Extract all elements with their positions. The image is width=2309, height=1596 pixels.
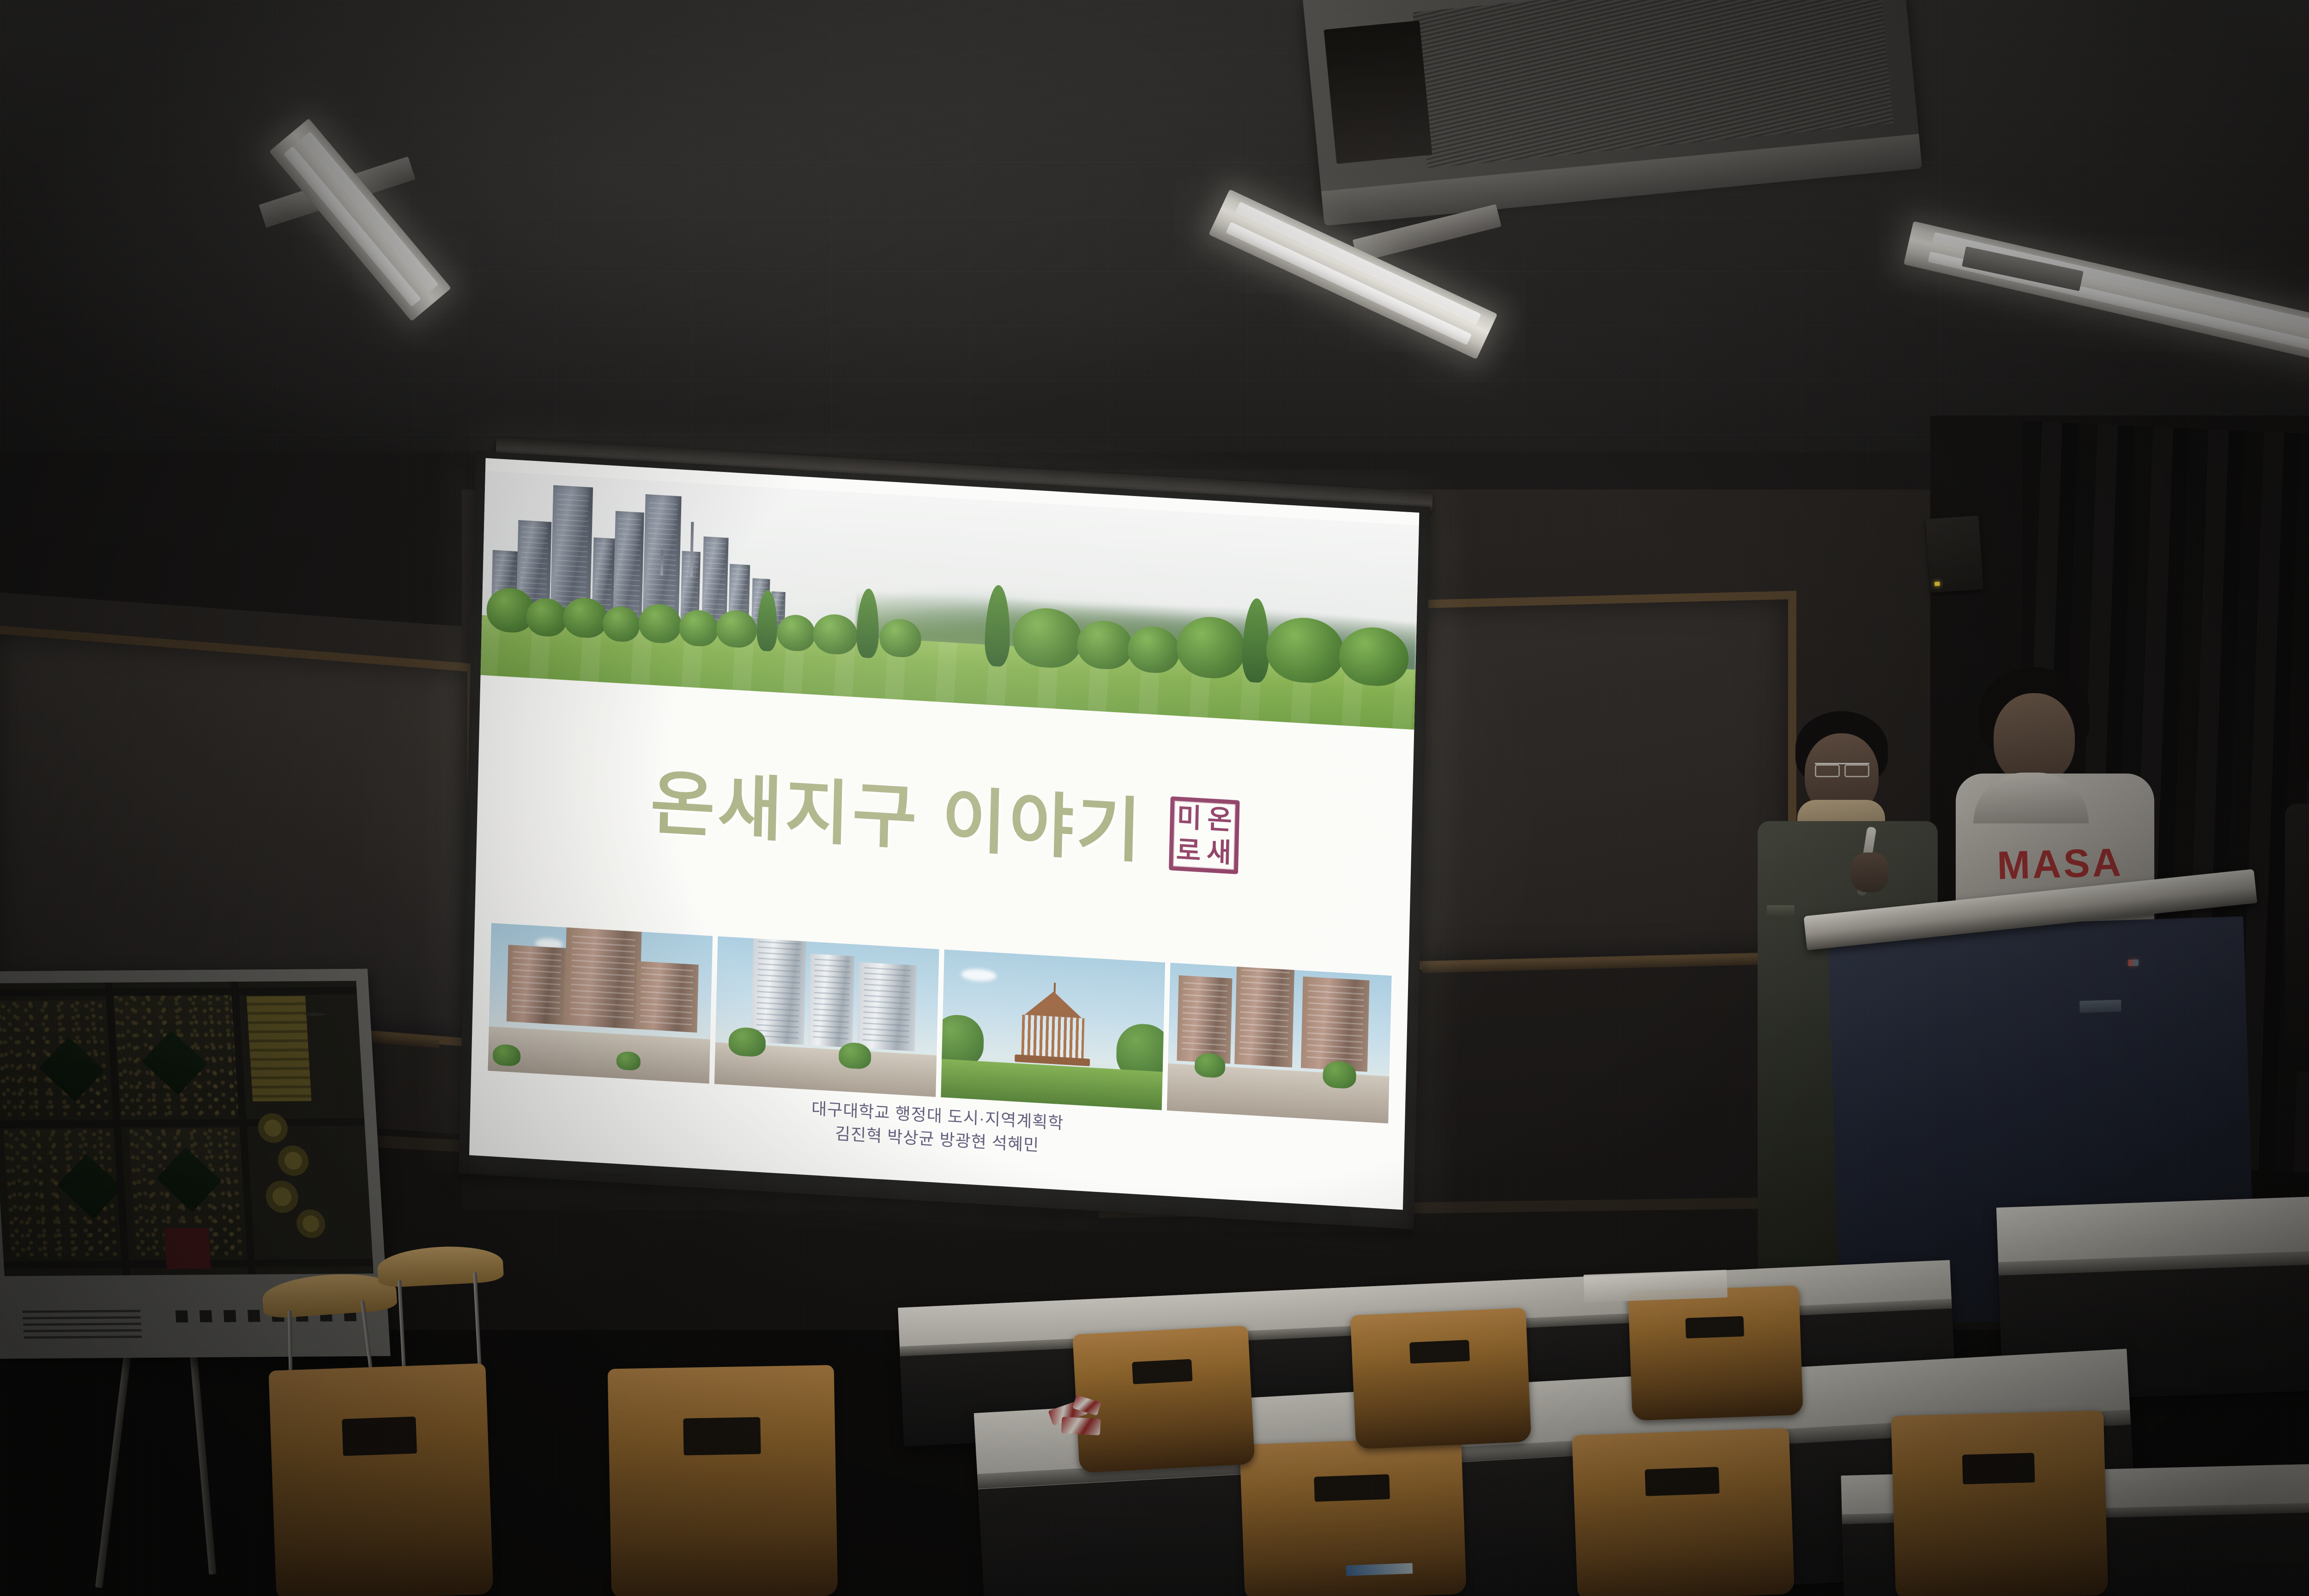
- chair-handle-cutout: [1409, 1340, 1470, 1364]
- townhouse-shape: [1177, 975, 1232, 1064]
- chair-handle-cutout: [1314, 1474, 1390, 1502]
- podium-led-icon: [2128, 959, 2138, 966]
- circular-plot: [265, 1180, 299, 1213]
- chair-back: [1239, 1437, 1467, 1596]
- seal-char: 미: [1173, 801, 1205, 835]
- gazebo-columns: [1022, 1015, 1084, 1059]
- compass-rose-icon: [302, 1002, 329, 1028]
- chair[interactable]: [268, 1363, 493, 1596]
- highrise-shape: [750, 936, 806, 1045]
- slide-title: 온새지구 이야기: [650, 768, 1145, 867]
- circular-plot: [277, 1145, 309, 1176]
- slide-banner-panorama: [481, 471, 1419, 730]
- poster-site-map: [0, 981, 374, 1276]
- chair-handle-cutout: [1645, 1467, 1720, 1496]
- townhouse-shape: [1234, 963, 1294, 1068]
- whiteboard-right[interactable]: [1390, 591, 1796, 970]
- chair-sticker: [1346, 1563, 1413, 1576]
- building-shape: [635, 961, 699, 1033]
- chair[interactable]: [1891, 1410, 2108, 1596]
- chair[interactable]: [608, 1365, 838, 1596]
- chair-back: [1628, 1286, 1803, 1421]
- photo-cell: [713, 936, 940, 1097]
- seal-stamp-icon: 미 온 로 새: [1169, 796, 1240, 874]
- easel-leg: [95, 1330, 134, 1588]
- photo-cell: [487, 923, 713, 1084]
- chair[interactable]: [1572, 1428, 1795, 1596]
- snack-wrapper[interactable]: [1048, 1396, 1113, 1443]
- torso: [2285, 804, 2309, 1071]
- chair-handle-cutout: [1685, 1316, 1744, 1338]
- chair-handle-cutout: [342, 1416, 417, 1456]
- highrise-shape: [857, 962, 916, 1052]
- chair-back: [1891, 1410, 2108, 1596]
- photo-cell: [1166, 963, 1393, 1124]
- podium-control-panel[interactable]: [2079, 1000, 2122, 1013]
- seal-char: 로: [1173, 834, 1204, 868]
- chair-handle-cutout: [1132, 1359, 1193, 1384]
- projection-screen: 온새지구 이야기 미 온 로 새: [458, 443, 1449, 1252]
- chair[interactable]: [1239, 1437, 1467, 1596]
- building-shape: [564, 927, 642, 1029]
- easel-leg: [188, 1335, 216, 1574]
- road: [0, 1118, 365, 1129]
- slide-title-row: 온새지구 이야기 미 온 로 새: [476, 717, 1414, 924]
- building-shape: [507, 945, 566, 1025]
- head: [1994, 693, 2075, 784]
- seal-char: 온: [1204, 803, 1235, 837]
- screen-border: 온새지구 이야기 미 온 로 새: [459, 451, 1431, 1230]
- photo-cell: [940, 949, 1167, 1110]
- hair: [2302, 720, 2309, 790]
- chair-back: [268, 1363, 493, 1596]
- chair[interactable]: [1350, 1308, 1531, 1449]
- ac-vent-louver: [1324, 21, 1432, 164]
- chair-back: [1572, 1428, 1795, 1596]
- poster-legend: [22, 1310, 142, 1343]
- commercial-strip: [246, 996, 311, 1101]
- circular-plot: [257, 1113, 288, 1143]
- glasses-icon: [1815, 763, 1869, 773]
- chair-back: [608, 1365, 838, 1596]
- chair[interactable]: [1628, 1286, 1803, 1421]
- townhouse-shape: [1301, 976, 1369, 1072]
- road: [0, 987, 357, 997]
- seated-attendee: [2281, 720, 2309, 1071]
- lecture-hall-scene: 온새지구 이야기 미 온 로 새: [0, 0, 2309, 1596]
- hand: [1851, 852, 1889, 892]
- civic-plot: [164, 1228, 211, 1269]
- sleeve-patch: [1767, 905, 1795, 918]
- paper-on-desk[interactable]: [1584, 1270, 1728, 1303]
- chair-back: [1350, 1308, 1531, 1449]
- highrise-shape: [808, 954, 855, 1048]
- projected-slide: 온새지구 이야기 미 온 로 새: [469, 458, 1419, 1210]
- seal-char: 새: [1203, 835, 1235, 870]
- wrapper-piece: [1061, 1417, 1101, 1435]
- chair-handle-cutout: [1962, 1453, 2035, 1484]
- hoodie-text: MASA: [1981, 841, 2139, 888]
- circular-plot: [296, 1209, 326, 1238]
- gazebo-roof: [1025, 990, 1082, 1018]
- power-led-icon: [1934, 581, 1940, 586]
- wall-speaker: [1926, 515, 1984, 593]
- chair-handle-cutout: [683, 1417, 761, 1456]
